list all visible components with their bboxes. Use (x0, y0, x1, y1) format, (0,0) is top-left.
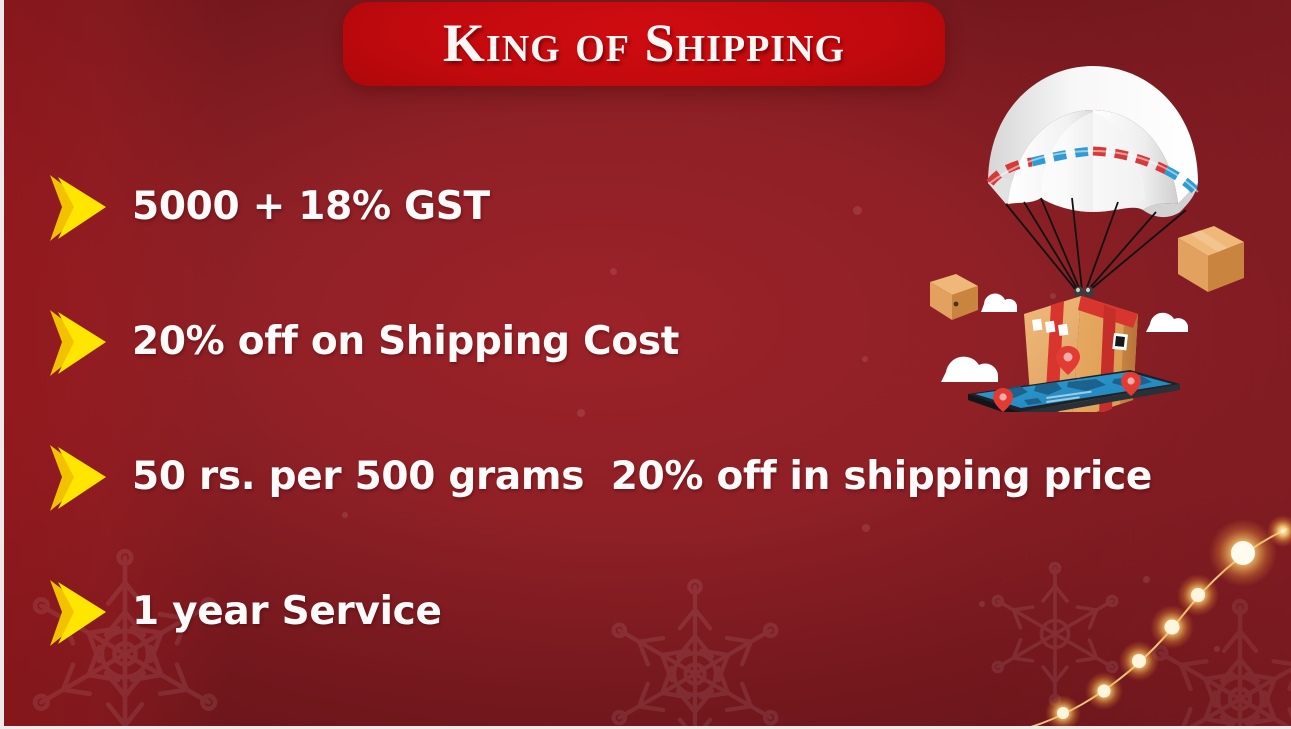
title-plaque: King of Shipping (343, 2, 945, 86)
cloud-icon (941, 357, 998, 382)
package-box-icon (930, 274, 978, 320)
left-border (0, 0, 4, 729)
cloud-icon (981, 294, 1017, 312)
page-title: King of Shipping (443, 16, 845, 73)
double-chevron-icon (46, 306, 118, 380)
cloud-icon (1146, 313, 1188, 332)
list-item: 1 year Service (46, 545, 1226, 680)
double-chevron-icon (46, 171, 118, 245)
promotional-banner: King of Shipping 5000 + 18% GST 20% off … (0, 0, 1291, 729)
list-item: 50 rs. per 500 grams 20% off in shipping… (46, 410, 1226, 545)
double-chevron-icon (46, 576, 118, 650)
double-chevron-icon (46, 441, 118, 515)
parachute-delivery-illustration (928, 52, 1258, 412)
list-item-label: 5000 + 18% GST (132, 186, 490, 229)
list-item-label: 1 year Service (132, 591, 442, 634)
package-box-icon (1178, 226, 1244, 292)
parachute-icon (988, 66, 1198, 298)
list-item-label: 50 rs. per 500 grams 20% off in shipping… (132, 456, 1152, 499)
list-item-label: 20% off on Shipping Cost (132, 321, 679, 364)
tablet-map-icon (968, 346, 1180, 412)
